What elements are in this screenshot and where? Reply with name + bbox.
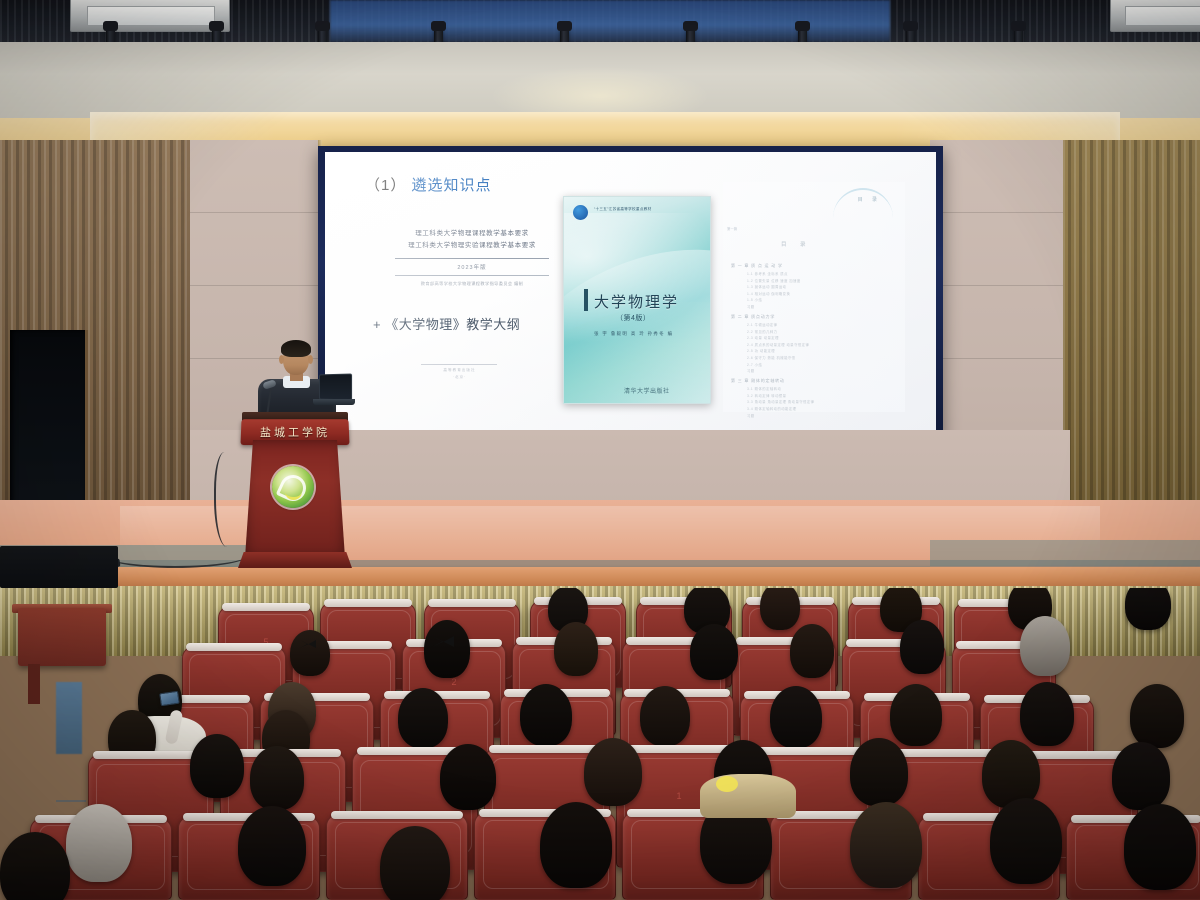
audience-head [238,806,306,886]
syllabus-line-1: 理工科类大学物理课程教学基本要求 [387,228,557,240]
toc-chapter: 第 一 章 质 点 运 动 学 [731,263,899,269]
slide-title-index: （1） [365,177,406,194]
toc-item: 3-1 刚体的定轴转动 [747,386,899,391]
projection-screen-frame: （1） 遴选知识点 理工科类大学物理课程教学基本要求 理工科类大学物理实验课程教… [318,146,943,441]
podium-banner-text: 盐城工学院 [260,424,330,440]
seat-headrest [489,745,606,753]
university-emblem-icon [272,466,314,508]
book-title-bar [584,289,588,311]
lecture-hall-photo: （1） 遴选知识点 理工科类大学物理课程教学基本要求 理工科类大学物理实验课程教… [0,0,1200,900]
book-publisher: 清华大学出版社 [624,386,670,395]
fur-collar [700,774,796,818]
audience-head [1125,588,1171,630]
audience-head [850,738,908,806]
audience-head [250,746,304,810]
podium-cable [214,452,240,547]
slide-title: （1） 遴选知识点 [365,174,492,195]
audience-head [190,734,244,798]
audience-head [424,620,470,678]
syllabus-rule-2 [395,275,549,276]
audience-head [584,738,642,806]
toc-item: 习题 [747,368,899,373]
toc-item: 2-3 动量 动量定理 [747,335,899,340]
yellow-accessory [716,776,738,792]
syllabus-publisher: 教育部高等学校大学物理课程教学指导委员会 编制 [387,281,557,287]
audience-head [640,686,690,746]
toc-item: 2-5 功 动能定理 [747,348,899,353]
audience-head [790,624,834,678]
seat-headrest [753,747,870,755]
stage-monitor [0,546,118,588]
toc-item: 2-7 小结 [747,362,899,367]
audience-head [760,588,800,630]
toc-heading: 目 录 [781,240,812,248]
book-edition: （第4版） [616,313,650,323]
toc-item: 3-4 刚体定轴转动的动能定理 [747,406,899,411]
toc-item: 2-4 质点系的动量定理 动量守恒定律 [747,342,899,347]
seat-headrest [331,811,463,819]
seat-headrest [222,603,310,611]
toc-item: 1-2 位置矢量 位移 速度 加速度 [747,278,899,283]
toc-item: 1-3 抛体运动 圆周运动 [747,284,899,289]
seat-headrest [186,643,282,651]
toc-side-mark: 第一篇 [727,226,737,231]
syllabus-line-2: 理工科类大学物理实验课程教学基本要求 [387,240,557,252]
audience-head [540,802,612,888]
publisher-dot-logo-icon [573,205,588,220]
audience-head [398,688,448,748]
podium-base [238,552,352,568]
presenter-ear-right [308,355,313,364]
syllabus-footer-line-2: · 北 京 · [421,374,497,381]
toc-item: 1-5 小结 [747,297,899,302]
audience-seating: 5 3 2 6 [0,588,1200,900]
audience-head-gray [66,804,132,882]
audience-head [520,684,572,746]
toc-item: 1-4 相对运动 伽利略变换 [747,291,899,296]
audience-head [770,686,822,748]
book-title: 大学物理学 [594,291,700,312]
projection-screen-surface[interactable]: （1） 遴选知识点 理工科类大学物理课程教学基本要求 理工科类大学物理实验课程教… [325,152,936,433]
toc-item: 2-6 保守力 势能 机械能守恒 [747,355,899,360]
ceiling-vent-right [1110,0,1200,32]
emblem-swirl-inner [285,483,303,500]
audience-head [690,624,738,680]
audience-head [1130,684,1184,748]
toc-item: 习题 [747,304,899,309]
seat-number: 2 [451,677,456,687]
slide-bullet: + 《大学物理》教学大纲 [373,314,520,333]
syllabus-footer: 高 等 教 育 出 版 社 · 北 京 · [421,364,497,381]
laptop-screen[interactable] [319,374,352,401]
audience-head-gray [1020,616,1070,676]
syllabus-rule [395,258,549,259]
audience-head [380,826,450,900]
ceiling-vent-left [70,0,230,32]
audience-head [1112,742,1170,810]
book-authors: 张 宇 鲁毅明 高 玲 孙秀冬 编 [594,331,673,337]
toc-folio: 目 录 [858,196,881,203]
presenter-ear-left [279,355,284,364]
audience-head [290,630,330,676]
toc-chapter: 第 三 章 刚体的定轴转动 [731,378,899,384]
audience-head [900,620,944,674]
audience-head [554,622,598,676]
audience-head [890,684,942,746]
toc-item: 2-2 常见的几种力 [747,329,899,334]
toc-item: 3-3 角动量 角动量定理 角动量守恒定律 [747,399,899,404]
slide-title-text: 遴选知识点 [412,177,492,194]
syllabus-year: 2023年版 [387,263,557,271]
smartphone[interactable] [159,691,180,707]
aisle-desk-leg [28,664,40,704]
toc-item: 1-1 参考系 坐标系 质点 [747,271,899,276]
syllabus-footer-rule [421,364,497,365]
textbook-toc-page: 目 录 第一篇 目 录 第 一 章 质 点 运 动 学 1-1 参考系 坐标系 … [723,182,905,412]
aisle-desk [18,608,106,666]
book-series-tag: “十三五”江苏省高等学校重点教材 [594,207,652,212]
toc-item: 习题 [747,413,899,418]
syllabus-footer-line-1: 高 等 教 育 出 版 社 [421,367,497,374]
laptop-base [313,399,355,405]
textbook-cover: “十三五”江苏省高等学校重点教材 大学物理学 （第4版） 张 宇 鲁毅明 高 玲… [563,196,711,404]
toc-item: 3-2 转动定律 转动惯量 [747,393,899,398]
presenter-hair [281,340,311,357]
seat-headrest [324,599,412,607]
audience-head [1020,682,1074,746]
toc-chapter: 第 二 章 质点动力学 [731,314,899,320]
seat-headrest [428,599,516,607]
syllabus-document: 理工科类大学物理课程教学基本要求 理工科类大学物理实验课程教学基本要求 2023… [387,228,557,287]
toc-item: 2-1 牛顿运动定律 [747,322,899,327]
audience-head [1124,804,1196,890]
seat-number: 1 [676,791,681,801]
toc-arc-decoration [833,188,893,218]
audience-head [850,802,922,888]
toc-list: 第 一 章 质 点 运 动 学 1-1 参考系 坐标系 质点 1-2 位置矢量 … [731,258,899,419]
ceiling-plane [0,42,1200,122]
audience-head [440,744,496,810]
audience-head [990,798,1062,884]
